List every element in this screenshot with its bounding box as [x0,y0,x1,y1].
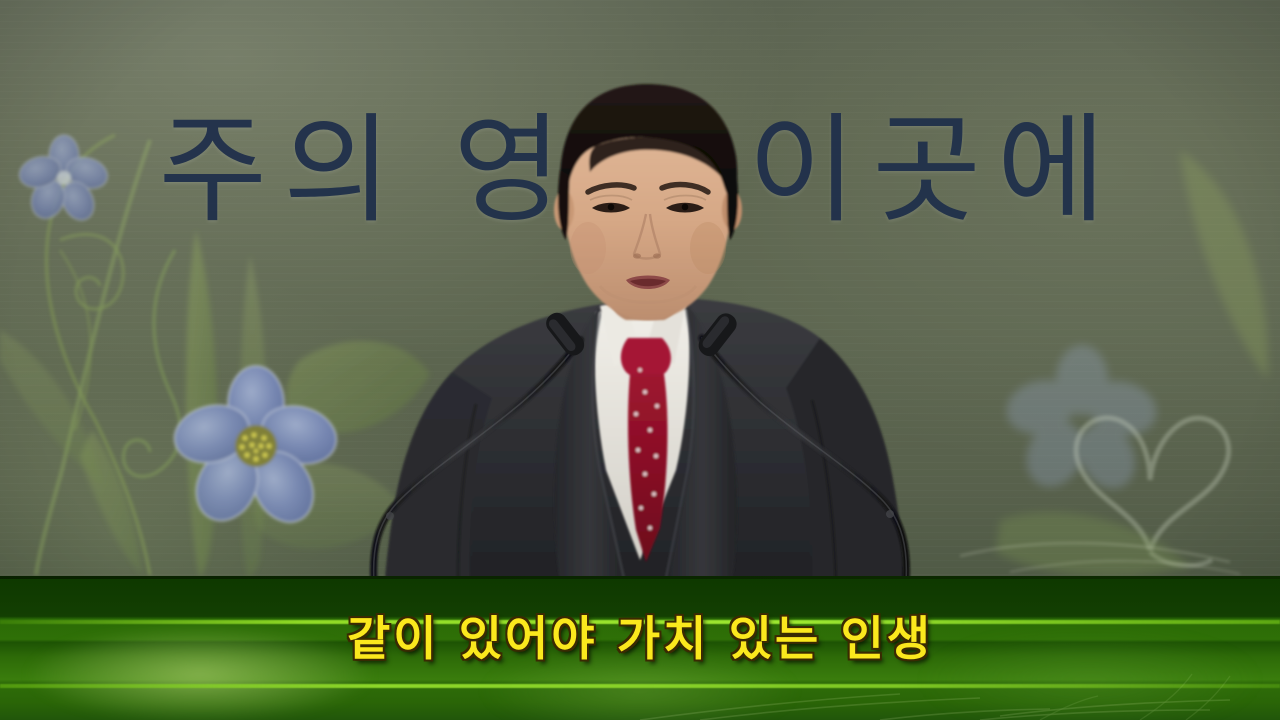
video-frame: 주의 영광 이곳에 [0,0,1280,720]
subtitle-caption: 같이 있어야 가치 있는 인생 [0,600,1280,669]
